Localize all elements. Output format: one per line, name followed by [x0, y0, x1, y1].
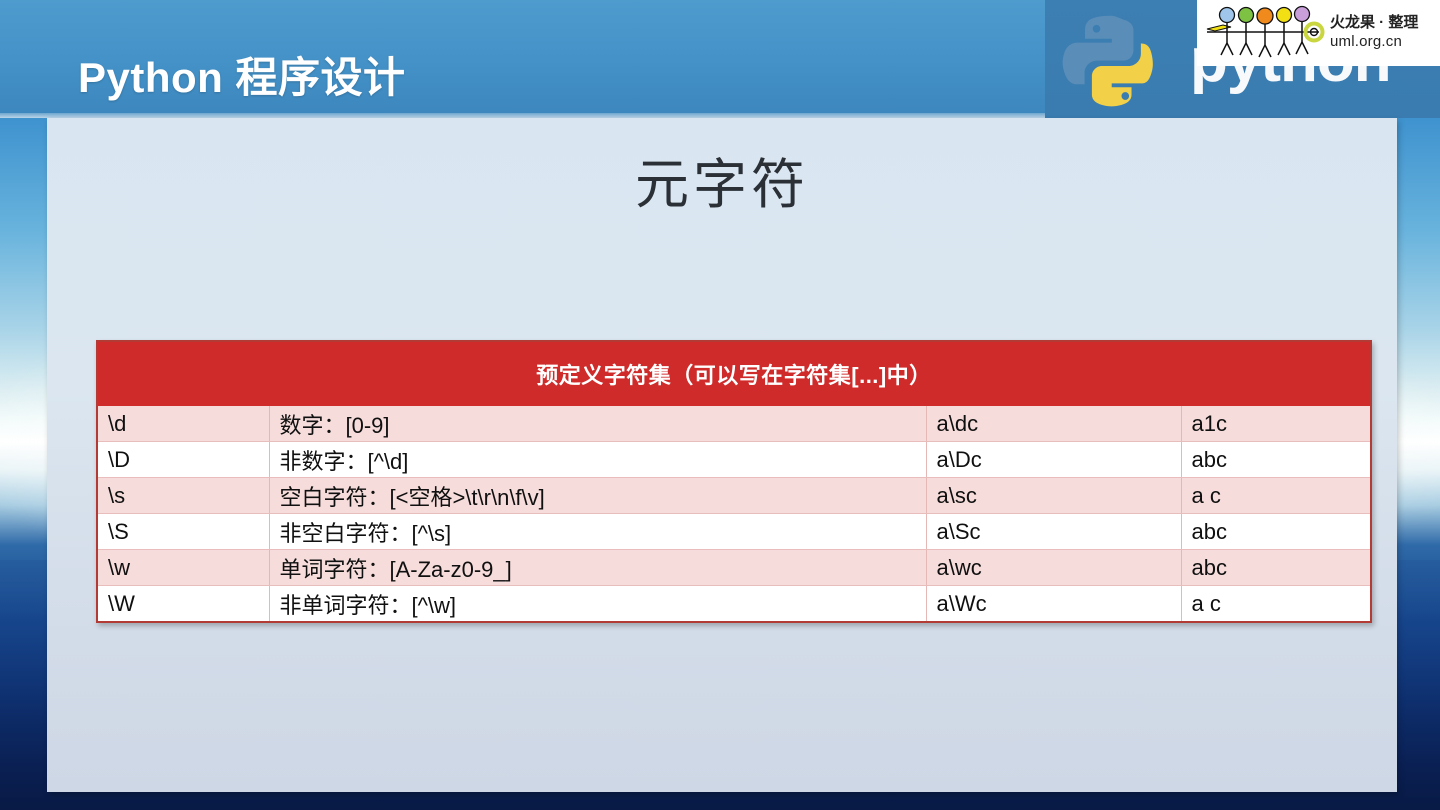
- cell-description: 非单词字符：[^\w]: [269, 586, 926, 623]
- table-row: \D非数字：[^\d]a\Dcabc: [97, 442, 1371, 478]
- cell-pattern: a\Dc: [926, 442, 1181, 478]
- slide-title: Python 程序设计: [78, 44, 406, 105]
- cell-description: 非空白字符：[^\s]: [269, 514, 926, 550]
- cell-description: 单词字符：[A-Za-z0-9_]: [269, 550, 926, 586]
- table-body: \d数字：[0-9]a\dca1c\D非数字：[^\d]a\Dcabc\s空白字…: [97, 406, 1371, 622]
- cell-result: a c: [1181, 478, 1371, 514]
- cell-pattern: a\sc: [926, 478, 1181, 514]
- stick-figures-icon: [1201, 5, 1325, 61]
- cell-token: \W: [97, 586, 269, 623]
- python-logo-icon: [1060, 12, 1164, 112]
- cell-token: \d: [97, 406, 269, 442]
- cell-token: \D: [97, 442, 269, 478]
- cell-description: 数字：[0-9]: [269, 406, 926, 442]
- table-header-row: 预定义字符集（可以写在字符集[...]中）: [97, 341, 1371, 406]
- cell-token: \w: [97, 550, 269, 586]
- cell-description: 空白字符：[<空格>\t\r\n\f\v]: [269, 478, 926, 514]
- cell-token: \s: [97, 478, 269, 514]
- table-row: \w单词字符：[A-Za-z0-9_]a\wcabc: [97, 550, 1371, 586]
- watermark-line-2: uml.org.cn: [1330, 33, 1418, 52]
- table-row: \d数字：[0-9]a\dca1c: [97, 406, 1371, 442]
- cell-result: a c: [1181, 586, 1371, 623]
- presentation-slide: Python 程序设计 python: [0, 0, 1440, 810]
- page-title: 元字符: [47, 140, 1397, 219]
- cell-pattern: a\wc: [926, 550, 1181, 586]
- table-row: \S非空白字符：[^\s]a\Scabc: [97, 514, 1371, 550]
- cell-pattern: a\Wc: [926, 586, 1181, 623]
- cell-pattern: a\Sc: [926, 514, 1181, 550]
- cell-description: 非数字：[^\d]: [269, 442, 926, 478]
- cell-result: a1c: [1181, 406, 1371, 442]
- predefined-charset-table: 预定义字符集（可以写在字符集[...]中） \d数字：[0-9]a\dca1c\…: [96, 340, 1372, 623]
- table-caption: 预定义字符集（可以写在字符集[...]中）: [97, 341, 1371, 406]
- cell-result: abc: [1181, 442, 1371, 478]
- cell-result: abc: [1181, 514, 1371, 550]
- slide-content-panel: 元字符 预定义字符集（可以写在字符集[...]中） \d数字：[0-9]a\dc…: [47, 118, 1397, 792]
- cell-result: abc: [1181, 550, 1371, 586]
- cell-token: \S: [97, 514, 269, 550]
- cell-pattern: a\dc: [926, 406, 1181, 442]
- watermark-badge: 火龙果 · 整理 uml.org.cn: [1197, 0, 1440, 66]
- table-row: \W非单词字符：[^\w]a\Wca c: [97, 586, 1371, 623]
- watermark-text: 火龙果 · 整理 uml.org.cn: [1330, 14, 1418, 51]
- table-row: \s空白字符：[<空格>\t\r\n\f\v]a\sca c: [97, 478, 1371, 514]
- watermark-line-1: 火龙果 · 整理: [1330, 14, 1418, 33]
